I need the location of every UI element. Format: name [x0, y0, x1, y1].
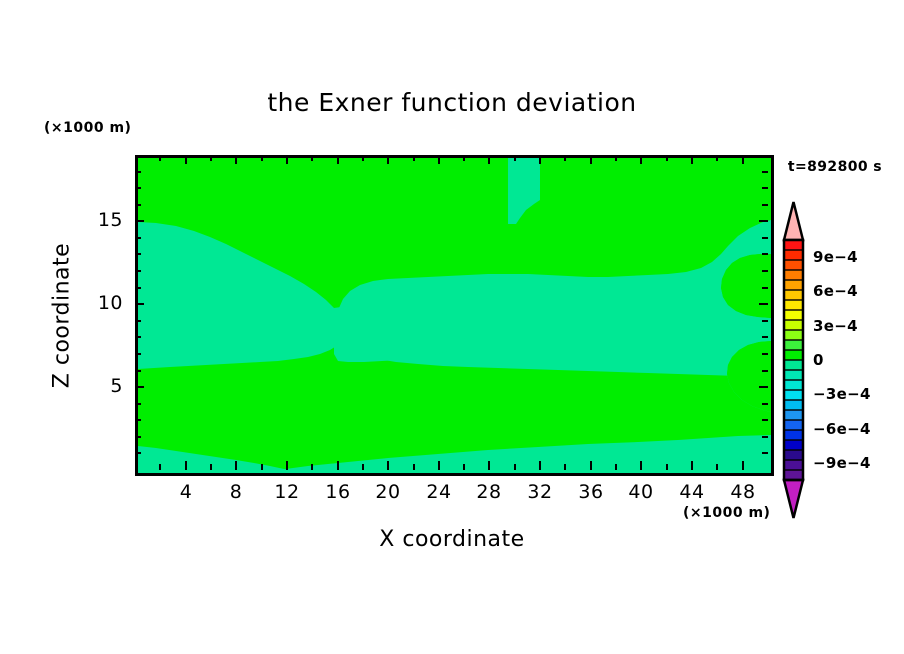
- x-tick-18: [362, 464, 364, 470]
- x-tick-40: [640, 461, 642, 470]
- x-tick-30: [514, 464, 516, 470]
- colorbar-band-1: [784, 250, 803, 260]
- y-tick-right-2: [762, 436, 768, 438]
- x-tick-top-44: [691, 155, 693, 164]
- y-tick-right-17: [762, 187, 768, 189]
- x-tick-top-30: [514, 155, 516, 161]
- x-tick-top-2: [159, 155, 161, 161]
- x-tick-12: [286, 461, 288, 470]
- x-tick-top-34: [564, 155, 566, 161]
- colorbar-tick-label-6: −9e−4: [813, 454, 871, 472]
- x-tick-42: [666, 464, 668, 470]
- x-axis-unit-label: (×1000 m): [683, 505, 770, 521]
- colorbar-band-8: [784, 320, 803, 330]
- colorbar-tick-label-2: 3e−4: [813, 317, 858, 335]
- x-tick-20: [387, 461, 389, 470]
- contour-plot-area: [135, 155, 774, 476]
- y-tick-right-7: [762, 353, 768, 355]
- contour-field: [138, 158, 771, 473]
- y-tick-8: [135, 336, 141, 338]
- y-tick-2: [135, 436, 141, 438]
- y-tick-right-14: [762, 237, 768, 239]
- colorbar-over-arrow: [784, 202, 803, 240]
- x-tick-top-6: [210, 155, 212, 161]
- x-tick-top-32: [539, 155, 541, 164]
- y-tick-1: [135, 452, 141, 454]
- colorbar-band-0: [784, 240, 803, 250]
- x-tick-44: [691, 461, 693, 470]
- x-tick-top-22: [413, 155, 415, 161]
- x-tick-34: [564, 464, 566, 470]
- colorbar-band-6: [784, 300, 803, 310]
- colorbar-band-7: [784, 310, 803, 320]
- x-tick-2: [159, 464, 161, 470]
- y-tick-18: [135, 171, 141, 173]
- colorbar-band-12: [784, 360, 803, 370]
- colorbar-bands: [779, 200, 813, 520]
- x-tick-top-10: [261, 155, 263, 161]
- x-tick-top-26: [463, 155, 465, 161]
- y-tick-11: [135, 287, 141, 289]
- x-tick-top-20: [387, 155, 389, 164]
- colorbar-band-9: [784, 330, 803, 340]
- colorbar-band-14: [784, 380, 803, 390]
- y-tick-16: [135, 204, 141, 206]
- x-tick-26: [463, 464, 465, 470]
- y-tick-9: [135, 320, 141, 322]
- x-tick-36: [590, 461, 592, 470]
- contour-bands: [138, 158, 771, 473]
- timestamp-annotation: t=892800 s: [788, 159, 882, 175]
- x-tick-top-42: [666, 155, 668, 161]
- x-tick-38: [615, 464, 617, 470]
- x-tick-32: [539, 461, 541, 470]
- x-tick-top-46: [716, 155, 718, 161]
- y-tick-right-9: [762, 320, 768, 322]
- x-tick-top-40: [640, 155, 642, 164]
- y-tick-label-10: 10: [83, 292, 123, 314]
- y-tick-14: [135, 237, 141, 239]
- colorbar-tick-label-5: −6e−4: [813, 420, 871, 438]
- colorbar-tick-label-1: 6e−4: [813, 282, 858, 300]
- colorbar-band-5: [784, 290, 803, 300]
- colorbar-band-3: [784, 270, 803, 280]
- y-tick-15: [135, 220, 144, 222]
- y-tick-7: [135, 353, 141, 355]
- y-tick-right-6: [762, 370, 768, 372]
- y-tick-right-11: [762, 287, 768, 289]
- colorbar-band-21: [784, 450, 803, 460]
- page-title: the Exner function deviation: [0, 88, 904, 117]
- x-tick-top-48: [742, 155, 744, 164]
- x-tick-10: [261, 464, 263, 470]
- y-tick-4: [135, 403, 141, 405]
- y-tick-right-10: [759, 303, 768, 305]
- colorbar-band-15: [784, 390, 803, 400]
- x-tick-22: [413, 464, 415, 470]
- y-tick-12: [135, 270, 141, 272]
- x-tick-top-28: [488, 155, 490, 164]
- colorbar-tick-label-4: −3e−4: [813, 385, 871, 403]
- colorbar: 9e−46e−43e−40−3e−4−6e−4−9e−4: [779, 200, 813, 520]
- y-tick-right-16: [762, 204, 768, 206]
- y-tick-3: [135, 419, 141, 421]
- x-tick-top-36: [590, 155, 592, 164]
- y-tick-right-4: [762, 403, 768, 405]
- y-tick-right-13: [762, 253, 768, 255]
- colorbar-tick-label-3: 0: [813, 351, 824, 369]
- x-tick-top-4: [185, 155, 187, 164]
- figure-canvas: the Exner function deviation (×1000 m) X…: [0, 0, 904, 654]
- x-tick-top-12: [286, 155, 288, 164]
- y-tick-label-5: 5: [83, 375, 123, 397]
- colorbar-band-18: [784, 420, 803, 430]
- y-tick-right-15: [759, 220, 768, 222]
- y-tick-right-12: [762, 270, 768, 272]
- x-axis-title: X coordinate: [252, 527, 652, 552]
- y-axis-title: Z coordinate: [50, 236, 75, 396]
- x-tick-top-24: [438, 155, 440, 164]
- y-tick-17: [135, 187, 141, 189]
- colorbar-band-20: [784, 440, 803, 450]
- x-tick-label-48: 48: [713, 481, 773, 503]
- colorbar-band-22: [784, 460, 803, 470]
- x-tick-46: [716, 464, 718, 470]
- y-tick-right-3: [762, 419, 768, 421]
- y-tick-13: [135, 253, 141, 255]
- y-tick-5: [135, 386, 144, 388]
- colorbar-under-arrow: [784, 480, 803, 518]
- x-tick-48: [742, 461, 744, 470]
- colorbar-band-11: [784, 350, 803, 360]
- x-tick-top-14: [311, 155, 313, 161]
- x-tick-top-38: [615, 155, 617, 161]
- colorbar-band-10: [784, 340, 803, 350]
- y-tick-right-18: [762, 171, 768, 173]
- colorbar-band-13: [784, 370, 803, 380]
- colorbar-band-17: [784, 410, 803, 420]
- x-tick-4: [185, 461, 187, 470]
- y-axis-unit-label: (×1000 m): [44, 120, 131, 136]
- x-tick-8: [235, 461, 237, 470]
- x-tick-28: [488, 461, 490, 470]
- y-tick-10: [135, 303, 144, 305]
- colorbar-band-2: [784, 260, 803, 270]
- x-tick-24: [438, 461, 440, 470]
- colorbar-band-16: [784, 400, 803, 410]
- y-tick-6: [135, 370, 141, 372]
- y-tick-label-15: 15: [83, 209, 123, 231]
- x-tick-top-18: [362, 155, 364, 161]
- colorbar-tick-label-0: 9e−4: [813, 248, 858, 266]
- colorbar-band-19: [784, 430, 803, 440]
- y-tick-right-5: [759, 386, 768, 388]
- x-tick-16: [337, 461, 339, 470]
- y-tick-right-8: [762, 336, 768, 338]
- x-tick-6: [210, 464, 212, 470]
- x-tick-14: [311, 464, 313, 470]
- x-tick-top-8: [235, 155, 237, 164]
- y-tick-right-1: [762, 452, 768, 454]
- x-tick-top-16: [337, 155, 339, 164]
- colorbar-band-4: [784, 280, 803, 290]
